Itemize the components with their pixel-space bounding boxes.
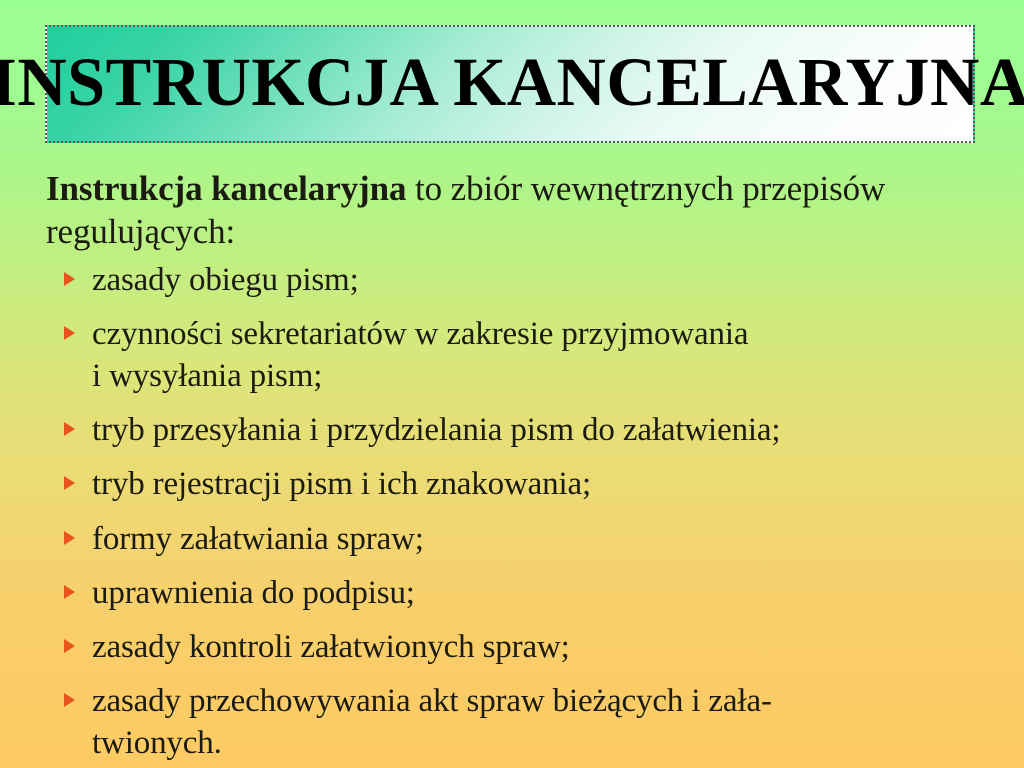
list-item-line1: formy załatwiania spraw; <box>92 518 986 560</box>
bullet-list: zasady obiegu pism; czynności sekretaria… <box>0 259 1024 764</box>
triangle-bullet-icon <box>64 585 75 599</box>
list-item-line1: zasady obiegu pism; <box>92 259 986 301</box>
slide-title: INSTRUKCJA KANCELARYJNA <box>0 48 1024 121</box>
list-item-line2: i wysyłania pism; <box>92 355 986 397</box>
list-item-line1: czynności sekretariatów w zakresie przyj… <box>92 313 986 355</box>
slide-title-box: INSTRUKCJA KANCELARYJNA <box>45 25 975 143</box>
triangle-bullet-icon <box>64 476 75 490</box>
intro-paragraph: Instrukcja kancelaryjna to zbiór wewnętr… <box>46 168 978 253</box>
triangle-bullet-icon <box>64 422 75 436</box>
list-item: czynności sekretariatów w zakresie przyj… <box>92 313 986 397</box>
intro-bold-lead: Instrukcja kancelaryjna <box>46 169 406 208</box>
list-item: uprawnienia do podpisu; <box>92 572 986 614</box>
triangle-bullet-icon <box>64 693 75 707</box>
list-item-line1: tryb rejestracji pism i ich znakowania; <box>92 463 986 505</box>
triangle-bullet-icon <box>64 326 75 340</box>
triangle-bullet-icon <box>64 531 75 545</box>
presentation-slide: INSTRUKCJA KANCELARYJNA Instrukcja kance… <box>0 0 1024 768</box>
list-item: tryb rejestracji pism i ich znakowania; <box>92 463 986 505</box>
list-item: zasady przechowywania akt spraw bieżącyc… <box>92 680 986 764</box>
list-item-line1: uprawnienia do podpisu; <box>92 572 986 614</box>
slide-body: Instrukcja kancelaryjna to zbiór wewnętr… <box>0 168 1024 765</box>
list-item-line1: tryb przesyłania i przydzielania pism do… <box>92 409 986 451</box>
list-item: formy załatwiania spraw; <box>92 518 986 560</box>
list-item: tryb przesyłania i przydzielania pism do… <box>92 409 986 451</box>
triangle-bullet-icon <box>64 639 75 653</box>
triangle-bullet-icon <box>64 272 75 286</box>
list-item: zasady obiegu pism; <box>92 259 986 301</box>
list-item-line1: zasady przechowywania akt spraw bieżącyc… <box>92 680 986 722</box>
list-item-line1: zasady kontroli załatwionych spraw; <box>92 626 986 668</box>
list-item: zasady kontroli załatwionych spraw; <box>92 626 986 668</box>
list-item-line2: twionych. <box>92 722 986 764</box>
